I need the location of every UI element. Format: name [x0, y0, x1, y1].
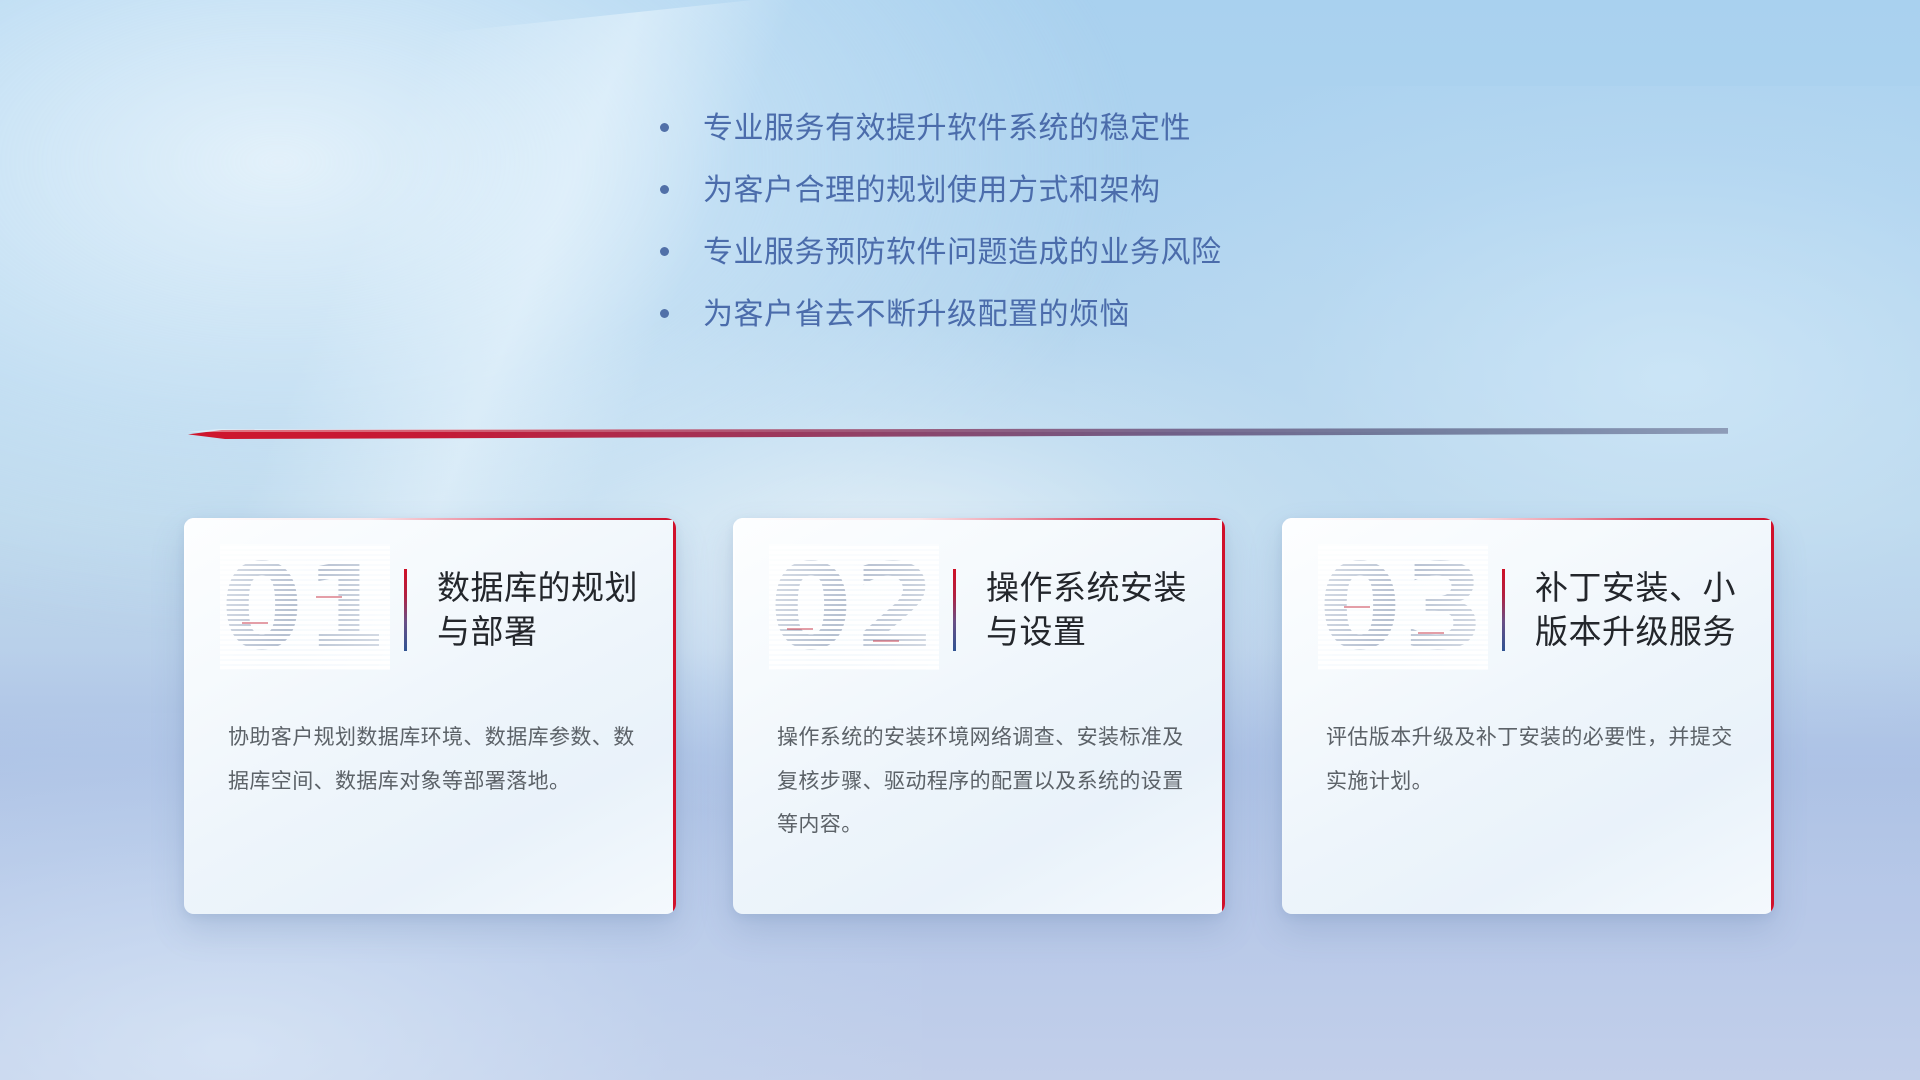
bullet-item-label: 为客户省去不断升级配置的烦恼	[703, 298, 1130, 331]
service-card-row: 01 数据库的规划与部署 协助客户规划数据库环境、数据库参数、数据库空间、数据库…	[184, 518, 1774, 914]
card-number-speck	[787, 628, 813, 630]
bullet-item-label: 专业服务有效提升软件系统的稳定性	[703, 112, 1191, 145]
card-header: 02 操作系统安装与设置	[733, 518, 1225, 702]
benefits-bullet-list: 专业服务有效提升软件系统的稳定性 为客户合理的规划使用方式和架构 专业服务预防软…	[660, 112, 1222, 360]
bullet-dot-icon	[660, 247, 669, 256]
card-title: 补丁安装、小版本升级服务	[1535, 566, 1774, 653]
card-number-watermark: 02	[769, 544, 939, 670]
card-number-speck	[1418, 632, 1444, 634]
card-title: 操作系统安装与设置	[986, 566, 1225, 653]
card-description: 协助客户规划数据库环境、数据库参数、数据库空间、数据库对象等部署落地。	[184, 716, 676, 803]
bullet-dot-icon	[660, 185, 669, 194]
card-title-accent-bar	[953, 569, 956, 651]
card-left-accent	[184, 518, 186, 914]
bullet-dot-icon	[660, 309, 669, 318]
card-number-speck	[242, 622, 268, 624]
card-description: 操作系统的安装环境网络调查、安装标准及复核步骤、驱动程序的配置以及系统的设置等内…	[733, 716, 1225, 847]
bullet-item: 为客户省去不断升级配置的烦恼	[660, 298, 1222, 331]
card-description: 评估版本升级及补丁安装的必要性，并提交实施计划。	[1282, 716, 1774, 803]
card-number-label: 02	[769, 544, 939, 670]
bullet-item-label: 专业服务预防软件问题造成的业务风险	[703, 236, 1222, 269]
service-card[interactable]: 03 补丁安装、小版本升级服务 评估版本升级及补丁安装的必要性，并提交实施计划。	[1282, 518, 1774, 914]
service-card[interactable]: 02 操作系统安装与设置 操作系统的安装环境网络调查、安装标准及复核步骤、驱动程…	[733, 518, 1225, 914]
bullet-item: 专业服务预防软件问题造成的业务风险	[660, 236, 1222, 269]
card-title-accent-bar	[404, 569, 407, 651]
card-right-accent	[673, 518, 676, 914]
divider-highlight	[188, 429, 1728, 432]
card-number-watermark: 01	[220, 544, 390, 670]
card-number-speck	[873, 640, 899, 642]
card-number-watermark: 03	[1318, 544, 1488, 670]
bullet-dot-icon	[660, 123, 669, 132]
card-top-accent	[1282, 518, 1774, 520]
card-number-label: 01	[220, 544, 390, 670]
card-left-accent	[733, 518, 735, 914]
bullet-item: 专业服务有效提升软件系统的稳定性	[660, 112, 1222, 145]
card-right-accent	[1222, 518, 1225, 914]
service-card[interactable]: 01 数据库的规划与部署 协助客户规划数据库环境、数据库参数、数据库空间、数据库…	[184, 518, 676, 914]
section-divider	[188, 428, 1728, 439]
bullet-item-label: 为客户合理的规划使用方式和架构	[703, 174, 1161, 207]
card-header: 01 数据库的规划与部署	[184, 518, 676, 702]
card-title: 数据库的规划与部署	[437, 566, 676, 653]
card-right-accent	[1771, 518, 1774, 914]
card-number-speck	[1344, 606, 1370, 608]
card-left-accent	[1282, 518, 1284, 914]
bullet-item: 为客户合理的规划使用方式和架构	[660, 174, 1222, 207]
card-title-accent-bar	[1502, 569, 1505, 651]
card-header: 03 补丁安装、小版本升级服务	[1282, 518, 1774, 702]
card-top-accent	[184, 518, 676, 520]
card-number-speck	[316, 596, 342, 598]
card-top-accent	[733, 518, 1225, 520]
